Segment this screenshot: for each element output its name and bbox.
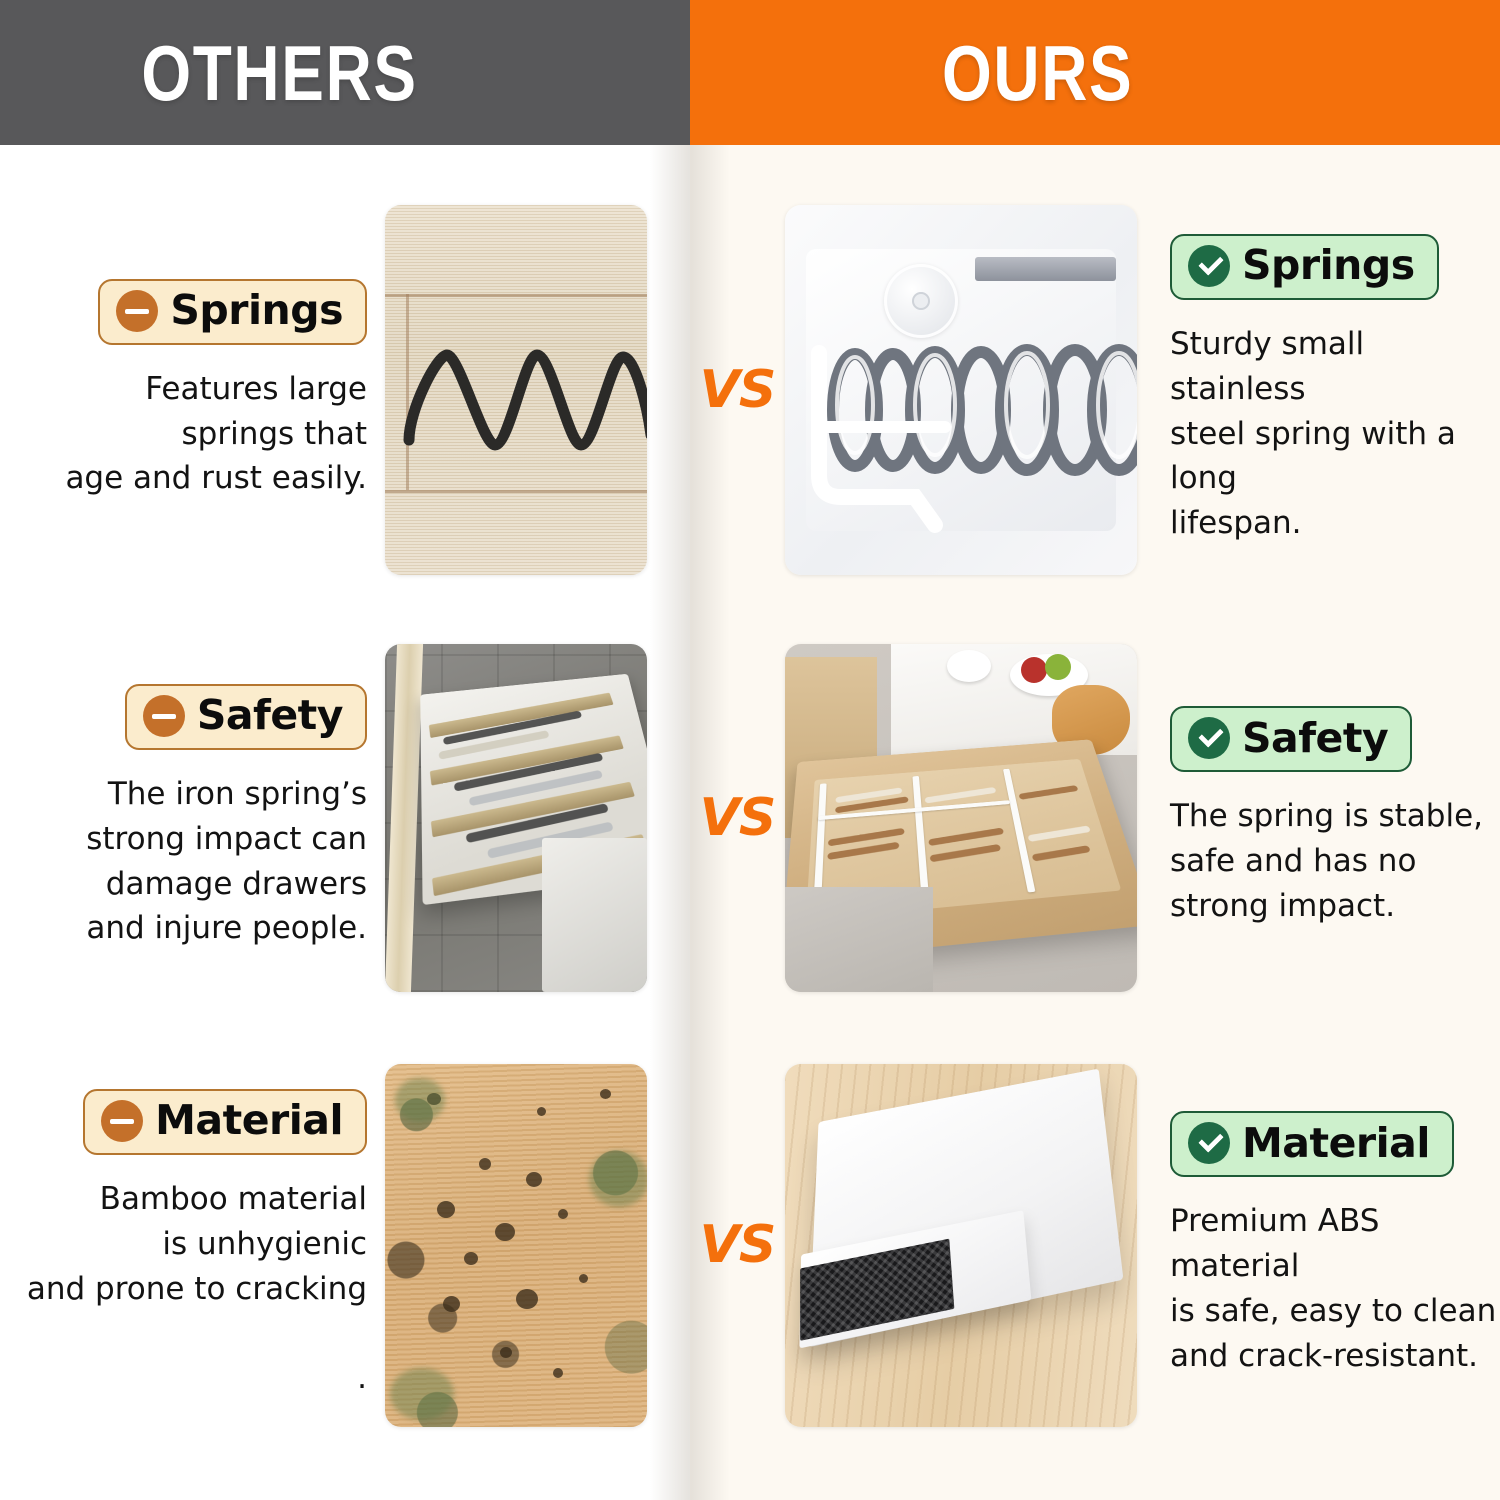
material-bad-image-wrap xyxy=(385,1064,690,1427)
springs-good-image-wrap xyxy=(785,205,1150,575)
springs-right-text-block: Springs Sturdy small stainless steel spr… xyxy=(1150,234,1500,547)
springs-good-description: Sturdy small stainless steel spring with… xyxy=(1170,322,1500,547)
springs-bad-image-wrap xyxy=(385,205,690,575)
springs-good-badge: Springs xyxy=(1170,234,1439,300)
vs-label-material: VS xyxy=(700,1219,776,1271)
drawer-slat xyxy=(429,693,614,739)
material-bad-badge: Material xyxy=(83,1089,367,1155)
utensil xyxy=(930,844,1002,862)
mold-spot xyxy=(500,1347,512,1358)
mold-patch xyxy=(589,1151,647,1207)
organized-wood-drawer-photo xyxy=(785,644,1137,992)
safety-bad-badge-label: Safety xyxy=(197,695,343,736)
utensil xyxy=(1019,785,1079,800)
springs-bad-badge: Springs xyxy=(98,279,367,345)
safety-good-image-wrap xyxy=(785,644,1150,992)
mold-spot xyxy=(443,1296,460,1312)
safety-good-badge-label: Safety xyxy=(1242,718,1388,759)
material-bad-description: Bamboo material is unhygienic and prone … xyxy=(27,1177,367,1402)
safety-left-text-block: Safety The iron spring’s strong impact c… xyxy=(0,684,385,952)
mold-spot xyxy=(437,1201,455,1218)
safety-good-badge: Safety xyxy=(1170,706,1412,772)
check-circle-icon xyxy=(1188,1122,1230,1164)
mold-spot xyxy=(479,1158,491,1170)
minus-circle-icon xyxy=(101,1100,143,1142)
comparison-row-safety: Safety The iron spring’s strong impact c… xyxy=(0,625,1500,1010)
vs-label-springs: VS xyxy=(700,364,776,416)
header-others-title: OTHERS xyxy=(142,34,418,112)
wood-rail xyxy=(385,644,423,992)
zigzag-spring-shape xyxy=(385,205,647,575)
springs-left-text-block: Springs Features large springs that age … xyxy=(0,279,385,502)
springs-bad-description: Features large springs that age and rust… xyxy=(65,367,367,502)
mold-spot xyxy=(464,1252,478,1265)
safety-bad-badge: Safety xyxy=(125,684,367,750)
white-mechanism-coil-spring-photo xyxy=(785,205,1137,575)
drawer-divider xyxy=(912,776,929,903)
springs-good-badge-label: Springs xyxy=(1242,245,1415,286)
springs-vs-wrap: VS xyxy=(690,364,785,416)
comparison-infographic: OTHERS OURS Springs Features large sprin… xyxy=(0,0,1500,1500)
check-circle-icon xyxy=(1188,717,1230,759)
material-good-badge-label: Material xyxy=(1242,1123,1430,1164)
springs-bad-badge-label: Springs xyxy=(170,290,343,331)
vs-label-safety: VS xyxy=(700,792,776,844)
material-bad-badge-label: Material xyxy=(155,1100,343,1141)
utensil xyxy=(928,827,1004,846)
safety-good-description: The spring is stable, safe and has no st… xyxy=(1170,794,1483,929)
mold-spot xyxy=(558,1209,568,1219)
minus-circle-icon xyxy=(116,290,158,332)
header-ours-title: OURS xyxy=(942,34,1133,112)
header-others: OTHERS xyxy=(0,0,690,145)
check-circle-icon xyxy=(1188,245,1230,287)
comparison-row-material: Material Bamboo material is unhygienic a… xyxy=(0,1045,1500,1445)
mold-patch xyxy=(395,1078,445,1122)
mold-spot xyxy=(553,1368,563,1378)
header-ours: OURS xyxy=(690,0,1500,145)
material-good-description: Premium ABS material is safe, easy to cl… xyxy=(1170,1199,1500,1379)
material-right-text-block: Material Premium ABS material is safe, e… xyxy=(1150,1111,1500,1379)
moldy-bamboo-board-photo xyxy=(385,1064,647,1427)
minus-circle-icon xyxy=(143,695,185,737)
safety-bad-image-wrap xyxy=(385,644,690,992)
safety-vs-wrap: VS xyxy=(690,792,785,844)
bamboo-drawer-zigzag-spring-photo xyxy=(385,205,647,575)
white-abs-drawer-divider-photo xyxy=(785,1064,1137,1427)
cluttered-kitchen-drawer-photo xyxy=(385,644,647,992)
material-left-text-block: Material Bamboo material is unhygienic a… xyxy=(0,1089,385,1402)
mold-spot xyxy=(495,1223,515,1241)
material-good-badge: Material xyxy=(1170,1111,1454,1177)
mold-spot xyxy=(600,1089,611,1099)
mold-spot xyxy=(516,1289,538,1309)
material-vs-wrap: VS xyxy=(690,1219,785,1271)
material-good-image-wrap xyxy=(785,1064,1150,1427)
utensil xyxy=(1028,826,1092,843)
tile-floor xyxy=(785,887,933,991)
drawer-divider xyxy=(1003,769,1036,893)
mold-spot xyxy=(537,1107,546,1116)
coil-spring-shape xyxy=(785,205,1137,575)
safety-right-text-block: Safety The spring is stable, safe and ha… xyxy=(1150,706,1500,929)
utensil xyxy=(1032,845,1092,861)
cabinet-face xyxy=(542,838,647,991)
comparison-row-springs: Springs Features large springs that age … xyxy=(0,190,1500,590)
mold-spot xyxy=(579,1274,588,1283)
mold-patch xyxy=(390,1368,454,1420)
utensil xyxy=(925,787,997,804)
header-bar: OTHERS OURS xyxy=(0,0,1500,145)
mold-spot xyxy=(526,1172,542,1187)
safety-bad-description: The iron spring’s strong impact can dama… xyxy=(86,772,367,952)
